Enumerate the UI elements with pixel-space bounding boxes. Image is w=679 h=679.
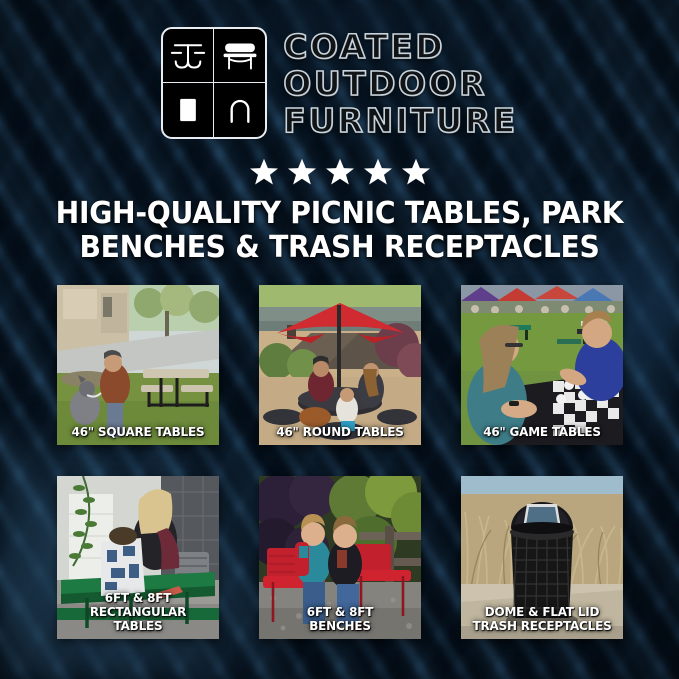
star-icon — [287, 157, 317, 187]
headline-line-2: BENCHES & TRASH RECEPTACLES — [20, 231, 658, 265]
star-icon — [249, 157, 279, 187]
logo-icon-box — [161, 27, 267, 139]
product-caption: DOME & FLAT LID TRASH RECEPTACLES — [465, 605, 619, 633]
product-caption-line-1: 46" ROUND TABLES — [276, 424, 403, 439]
product-tile[interactable]: 6FT & 8FT BENCHES — [259, 476, 421, 639]
product-tile[interactable]: 46" ROUND TABLES — [259, 285, 421, 445]
headline-line-1: HIGH-QUALITY PICNIC TABLES, PARK — [56, 196, 624, 231]
product-photo-round-tables — [259, 285, 421, 445]
product-photo-game-tables — [461, 285, 623, 445]
product-caption: 46" GAME TABLES — [465, 425, 619, 439]
product-caption-line-2: TRASH RECEPTACLES — [468, 619, 616, 633]
product-caption-line-1: 6FT & 8FT — [105, 590, 171, 605]
product-caption: 6FT & 8FT RECTANGULAR TABLES — [61, 591, 215, 633]
star-rating — [0, 157, 679, 187]
star-icon — [363, 157, 393, 187]
wordmark-line-2: OUTDOOR — [283, 66, 517, 102]
brand-wordmark: COATED OUTDOOR FURNITURE — [283, 27, 517, 139]
star-icon — [401, 157, 431, 187]
product-caption-line-2: BENCHES — [266, 619, 414, 633]
product-caption: 46" SQUARE TABLES — [61, 425, 215, 439]
product-tile[interactable]: 46" SQUARE TABLES — [57, 285, 219, 445]
product-caption-line-1: 46" GAME TABLES — [483, 424, 601, 439]
trash-receptacle-icon — [163, 83, 214, 137]
product-photo-square-tables — [57, 285, 219, 445]
product-tile[interactable]: 46" GAME TABLES — [461, 285, 623, 445]
product-grid: 46" SQUARE TABLES — [57, 285, 623, 639]
product-caption-line-1: DOME & FLAT LID — [485, 604, 600, 619]
park-bench-icon — [214, 29, 265, 83]
product-caption: 46" ROUND TABLES — [263, 425, 417, 439]
brand-logo: COATED OUTDOOR FURNITURE — [0, 27, 679, 139]
product-tile[interactable]: 6FT & 8FT RECTANGULAR TABLES — [57, 476, 219, 639]
product-caption-line-1: 6FT & 8FT — [307, 604, 373, 619]
star-icon — [325, 157, 355, 187]
product-caption-line-1: 46" SQUARE TABLES — [72, 424, 205, 439]
product-caption: 6FT & 8FT BENCHES — [263, 605, 417, 633]
headline: HIGH-QUALITY PICNIC TABLES, PARK BENCHES… — [20, 197, 658, 265]
product-caption-line-2: RECTANGULAR TABLES — [64, 605, 212, 633]
wordmark-line-3: FURNITURE — [283, 103, 517, 139]
picnic-table-icon — [163, 29, 214, 83]
promo-banner: COATED OUTDOOR FURNITURE HIGH-QUALITY PI… — [0, 0, 679, 679]
product-tile[interactable]: DOME & FLAT LID TRASH RECEPTACLES — [461, 476, 623, 639]
wordmark-line-1: COATED — [283, 29, 517, 65]
bike-rack-arch-icon — [214, 83, 265, 137]
